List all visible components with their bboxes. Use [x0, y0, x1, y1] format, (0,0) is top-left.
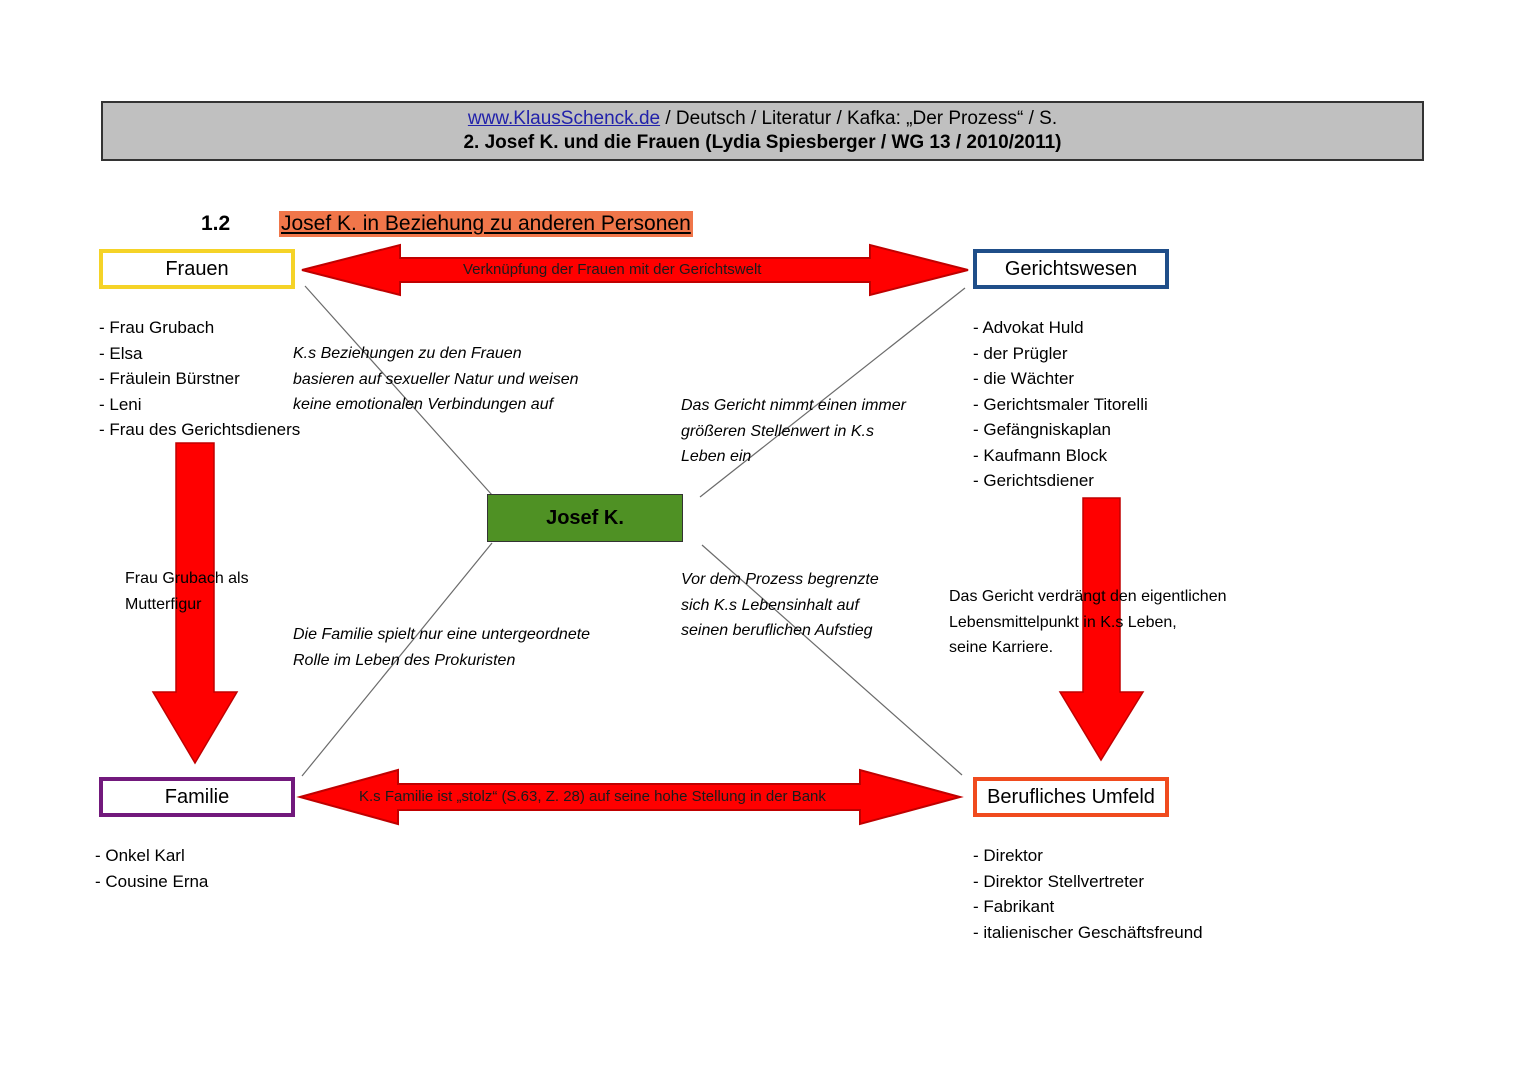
note-line: basieren auf sexueller Natur und weisen — [293, 367, 579, 393]
list-item: - Frau Grubach — [99, 315, 300, 341]
box-frauen-label: Frauen — [165, 258, 228, 281]
list-item: - Elsa — [99, 341, 300, 367]
list-item: - die Wächter — [973, 366, 1148, 392]
header-line-1: www.KlausSchenck.de / Deutsch / Literatu… — [468, 107, 1057, 131]
list-item: - Gerichtsdiener — [973, 468, 1148, 494]
note-line: K.s Beziehungen zu den Frauen — [293, 341, 579, 367]
box-berufliches-umfeld-label: Berufliches Umfeld — [987, 786, 1155, 809]
list-item: - Frau des Gerichtsdieners — [99, 417, 300, 443]
note-line: keine emotionalen Verbindungen auf — [293, 392, 579, 418]
list-item: - der Prügler — [973, 341, 1148, 367]
list-item: - Direktor — [973, 843, 1203, 869]
list-frauen: - Frau Grubach - Elsa - Fräulein Bürstne… — [99, 315, 300, 443]
note-line: Rolle im Leben des Prokuristen — [293, 648, 590, 674]
note-frauen: K.s Beziehungen zu den Frauen basieren a… — [293, 341, 579, 418]
list-item: - Onkel Karl — [95, 843, 208, 869]
list-familie: - Onkel Karl - Cousine Erna — [95, 843, 208, 894]
note-line: seinen beruflichen Aufstieg — [681, 618, 879, 644]
list-gerichtswesen: - Advokat Huld - der Prügler - die Wächt… — [973, 315, 1148, 494]
box-berufliches-umfeld[interactable]: Berufliches Umfeld — [973, 777, 1169, 817]
list-item: - Advokat Huld — [973, 315, 1148, 341]
note-familie: Die Familie spielt nur eine untergeordne… — [293, 622, 590, 673]
note-line: Mutterfigur — [125, 592, 249, 618]
note-karriere: Das Gericht verdrängt den eigentlichen L… — [949, 584, 1227, 661]
diagram-overlay — [0, 0, 1528, 1080]
arrow-caption-bottom: K.s Familie ist „stolz“ (S.63, Z. 28) au… — [359, 788, 826, 805]
box-gerichtswesen-label: Gerichtswesen — [1005, 258, 1137, 281]
note-line: Leben ein — [681, 444, 906, 470]
note-line: seine Karriere. — [949, 635, 1227, 661]
header-bar: www.KlausSchenck.de / Deutsch / Literatu… — [101, 101, 1424, 161]
note-line: Frau Grubach als — [125, 566, 249, 592]
arrow-caption-top: Verknüpfung der Frauen mit der Gerichtsw… — [463, 261, 761, 278]
note-line: Lebensmittelpunkt in K.s Leben, — [949, 610, 1227, 636]
note-mutterfigur: Frau Grubach als Mutterfigur — [125, 566, 249, 617]
list-item: - Fabrikant — [973, 894, 1203, 920]
list-berufliches-umfeld: - Direktor - Direktor Stellvertreter - F… — [973, 843, 1203, 945]
header-line-2: 2. Josef K. und die Frauen (Lydia Spiesb… — [463, 131, 1061, 155]
diagram-page: www.KlausSchenck.de / Deutsch / Literatu… — [0, 0, 1528, 1080]
list-item: - Gerichtsmaler Titorelli — [973, 392, 1148, 418]
box-josef-k-label: Josef K. — [546, 507, 624, 530]
list-item: - Leni — [99, 392, 300, 418]
list-item: - Cousine Erna — [95, 869, 208, 895]
note-line: Die Familie spielt nur eine untergeordne… — [293, 622, 590, 648]
box-familie[interactable]: Familie — [99, 777, 295, 817]
note-line: sich K.s Lebensinhalt auf — [681, 593, 879, 619]
list-item: - Kaufmann Block — [973, 443, 1148, 469]
note-gerichtswesen: Das Gericht nimmt einen immer größeren S… — [681, 393, 906, 470]
section-number: 1.2 — [201, 212, 230, 236]
section-title: Josef K. in Beziehung zu anderen Persone… — [279, 211, 693, 237]
box-gerichtswesen[interactable]: Gerichtswesen — [973, 249, 1169, 289]
note-line: größeren Stellenwert in K.s — [681, 419, 906, 445]
list-item: - Fräulein Bürstner — [99, 366, 300, 392]
header-breadcrumb-rest: / Deutsch / Literatur / Kafka: „Der Proz… — [660, 108, 1057, 129]
list-item: - italienischer Geschäftsfreund — [973, 920, 1203, 946]
note-line: Das Gericht verdrängt den eigentlichen — [949, 584, 1227, 610]
box-josef-k[interactable]: Josef K. — [487, 494, 683, 542]
header-website-link[interactable]: www.KlausSchenck.de — [468, 108, 660, 129]
note-berufliches-umfeld: Vor dem Prozess begrenzte sich K.s Leben… — [681, 567, 879, 644]
box-frauen[interactable]: Frauen — [99, 249, 295, 289]
list-item: - Gefängniskaplan — [973, 417, 1148, 443]
note-line: Das Gericht nimmt einen immer — [681, 393, 906, 419]
note-line: Vor dem Prozess begrenzte — [681, 567, 879, 593]
box-familie-label: Familie — [165, 786, 229, 809]
list-item: - Direktor Stellvertreter — [973, 869, 1203, 895]
